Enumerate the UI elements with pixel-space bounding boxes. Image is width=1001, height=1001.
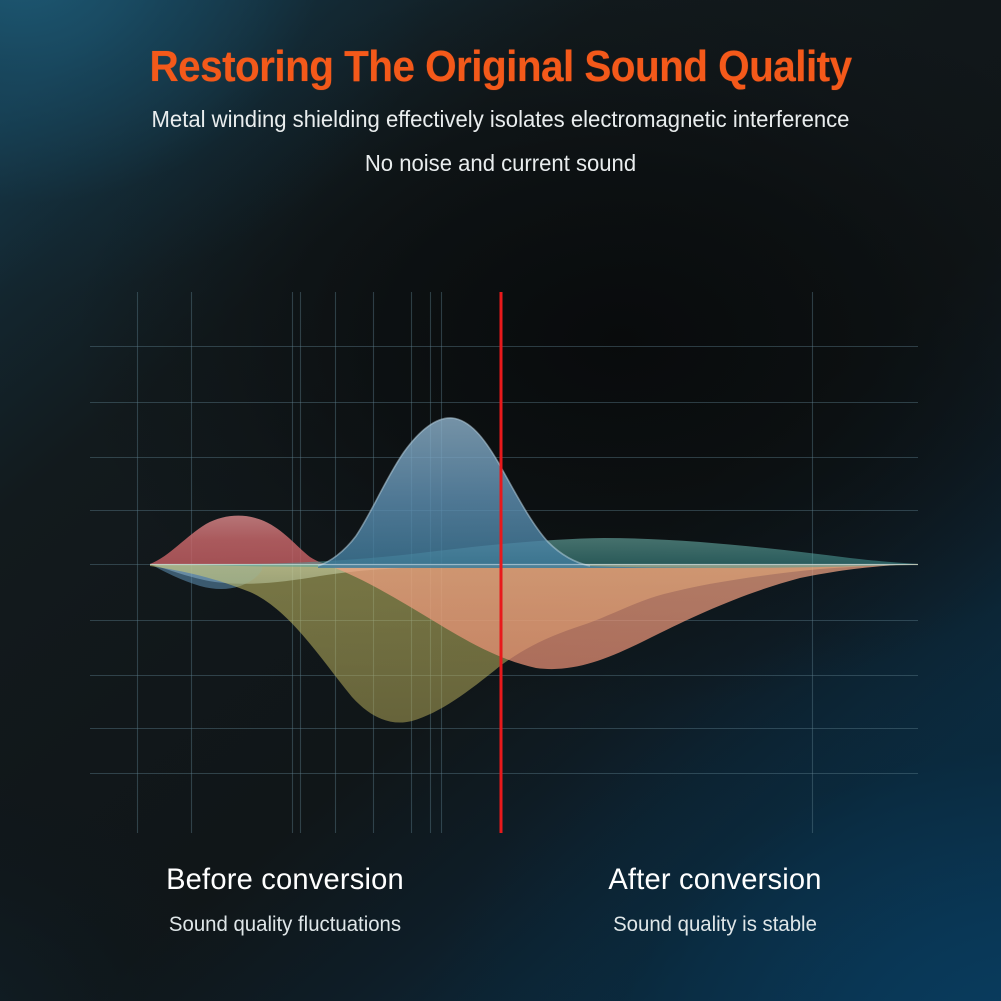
footer-block: Before conversion Sound quality fluctuat… bbox=[0, 851, 1001, 1001]
before-conversion-heading: Before conversion bbox=[96, 863, 474, 897]
after-conversion-caption: Sound quality is stable bbox=[506, 897, 923, 937]
after-conversion-heading: After conversion bbox=[506, 863, 923, 897]
before-conversion-column: Before conversion Sound quality fluctuat… bbox=[90, 863, 480, 937]
promo-banner: Restoring The Original Sound Quality Met… bbox=[0, 0, 1001, 1001]
waveform-layers bbox=[150, 418, 918, 723]
after-conversion-column: After conversion Sound quality is stable bbox=[500, 863, 930, 937]
series-red-hump bbox=[150, 516, 332, 565]
before-conversion-caption: Sound quality fluctuations bbox=[96, 897, 474, 937]
